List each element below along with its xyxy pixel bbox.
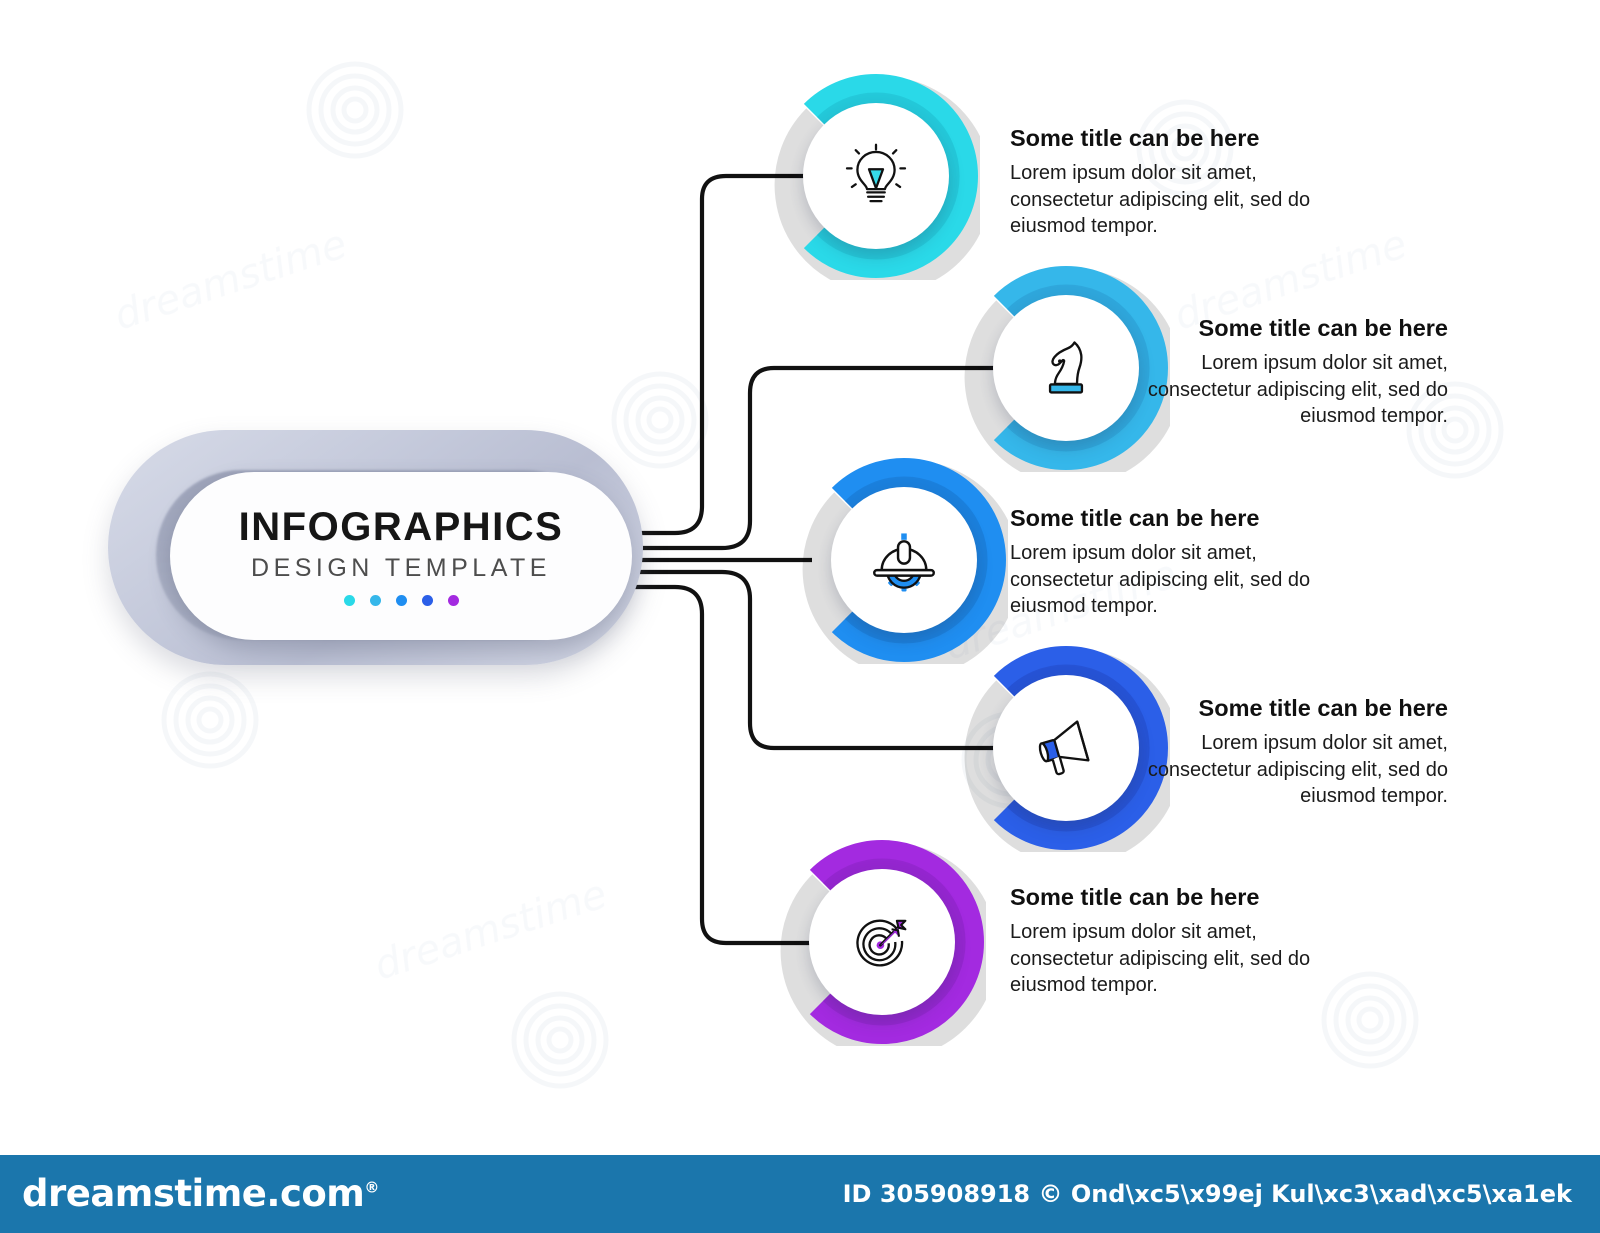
- hub-dot-3: [396, 595, 407, 606]
- step-text-5: Some title can be here Lorem ipsum dolor…: [1010, 884, 1330, 999]
- dreamstime-logo[interactable]: dreamstime.com®: [22, 1172, 379, 1215]
- step-node-5[interactable]: [778, 838, 986, 1046]
- step-body-5: Lorem ipsum dolor sit amet, consectetur …: [1010, 919, 1330, 999]
- dreamstime-logo-text: dreamstime.com: [22, 1172, 364, 1215]
- hub-dot-5: [448, 595, 459, 606]
- infographic-canvas: dreamstime dreamstime dreamstime dreamst…: [0, 0, 1600, 1233]
- step-title-5: Some title can be here: [1010, 884, 1330, 911]
- step-text-2: Some title can be here Lorem ipsum dolor…: [1128, 315, 1448, 430]
- step-body-1: Lorem ipsum dolor sit amet, consectetur …: [1010, 160, 1330, 240]
- hub-dot-4: [422, 595, 433, 606]
- hub-dot-row: [344, 595, 459, 606]
- step-title-4: Some title can be here: [1128, 695, 1448, 722]
- target-arrow-icon: [848, 908, 916, 976]
- knight-base-fill: [1050, 384, 1082, 392]
- megaphone-icon: [1032, 714, 1100, 782]
- step-text-4: Some title can be here Lorem ipsum dolor…: [1128, 695, 1448, 810]
- step-text-1: Some title can be here Lorem ipsum dolor…: [1010, 125, 1330, 240]
- lightbulb-icon: [841, 141, 911, 211]
- hub-dot-1: [344, 595, 355, 606]
- step-icon-disc-3: [831, 487, 977, 633]
- step-title-2: Some title can be here: [1128, 315, 1448, 342]
- step-title-3: Some title can be here: [1010, 505, 1330, 532]
- center-hub: INFOGRAPHICS DESIGN TEMPLATE: [108, 430, 663, 675]
- step-node-1[interactable]: [772, 72, 980, 280]
- step-icon-disc-5: [809, 869, 955, 1015]
- step-node-3[interactable]: [800, 456, 1008, 664]
- step-body-3: Lorem ipsum dolor sit amet, consectetur …: [1010, 540, 1330, 620]
- step-icon-disc-1: [803, 103, 949, 249]
- step-icon-disc-4: [993, 675, 1139, 821]
- step-text-3: Some title can be here Lorem ipsum dolor…: [1010, 505, 1330, 620]
- chess-knight-icon: [1032, 334, 1100, 402]
- step-title-1: Some title can be here: [1010, 125, 1330, 152]
- step-icon-disc-2: [993, 295, 1139, 441]
- registered-mark: ®: [364, 1179, 379, 1197]
- hub-card: INFOGRAPHICS DESIGN TEMPLATE: [170, 472, 632, 640]
- hub-dot-2: [370, 595, 381, 606]
- image-id-credit: ID 305908918 © Ond\xc5\x99ej Kul\xc3\xad…: [843, 1180, 1572, 1208]
- page-subtitle: DESIGN TEMPLATE: [251, 556, 551, 581]
- step-body-2: Lorem ipsum dolor sit amet, consectetur …: [1128, 350, 1448, 430]
- dreamstime-footer-bar: dreamstime.com® ID 305908918 © Ond\xc5\x…: [0, 1155, 1600, 1233]
- hard-hat-gear-icon: [870, 526, 938, 594]
- page-title: INFOGRAPHICS: [239, 507, 564, 547]
- step-body-4: Lorem ipsum dolor sit amet, consectetur …: [1128, 730, 1448, 810]
